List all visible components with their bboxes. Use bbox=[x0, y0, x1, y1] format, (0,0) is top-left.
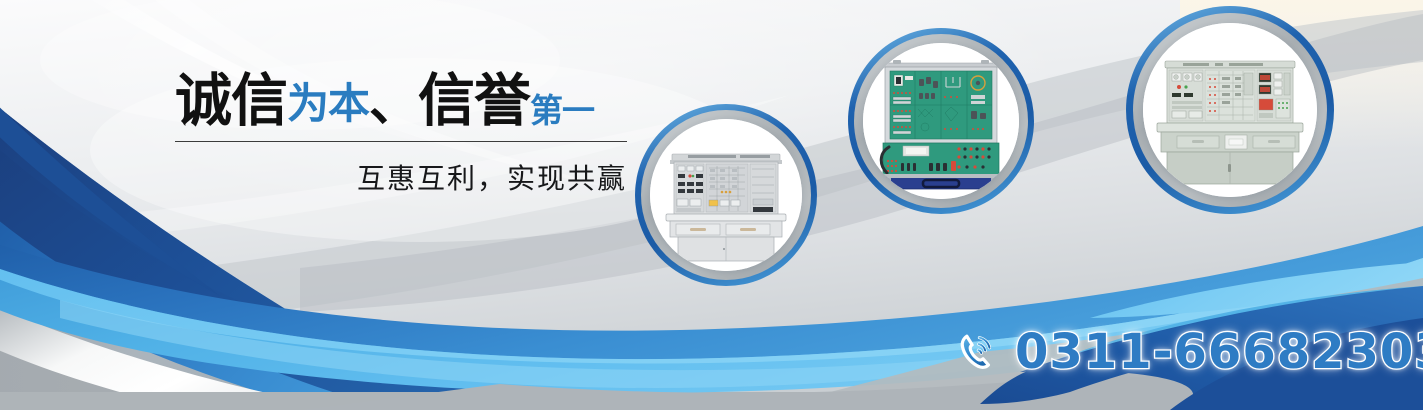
headline-separator: 、 bbox=[369, 74, 418, 132]
contact-phone[interactable]: 0311-66682303 bbox=[955, 324, 1423, 380]
subtitle: 互惠互利，实现共赢 bbox=[175, 157, 627, 197]
headline-divider bbox=[175, 141, 627, 142]
product-1-image[interactable] bbox=[650, 119, 802, 271]
headline-block: 诚信为本、信誉第一 互惠互利，实现共赢 bbox=[175, 72, 635, 197]
product-3-image[interactable] bbox=[1143, 23, 1317, 197]
page-title: 诚信为本、信誉第一 bbox=[175, 72, 635, 132]
headline-part-4: 第一 bbox=[530, 91, 594, 130]
headline-part-1: 诚信 bbox=[175, 68, 287, 134]
portable-electronics-training-case-illustration bbox=[863, 43, 1019, 199]
electrical-training-workbench-illustration bbox=[650, 119, 802, 271]
phone-number: 0311-66682303 bbox=[1015, 324, 1423, 380]
promo-banner: 诚信为本、信誉第一 互惠互利，实现共赢 bbox=[0, 0, 1423, 410]
product-2-image[interactable] bbox=[863, 43, 1019, 199]
phone-call-icon bbox=[955, 329, 1001, 375]
headline-part-2: 为本 bbox=[287, 79, 369, 128]
electrical-machine-test-bench-illustration bbox=[1143, 23, 1317, 197]
headline-part-3: 信誉 bbox=[418, 68, 530, 134]
